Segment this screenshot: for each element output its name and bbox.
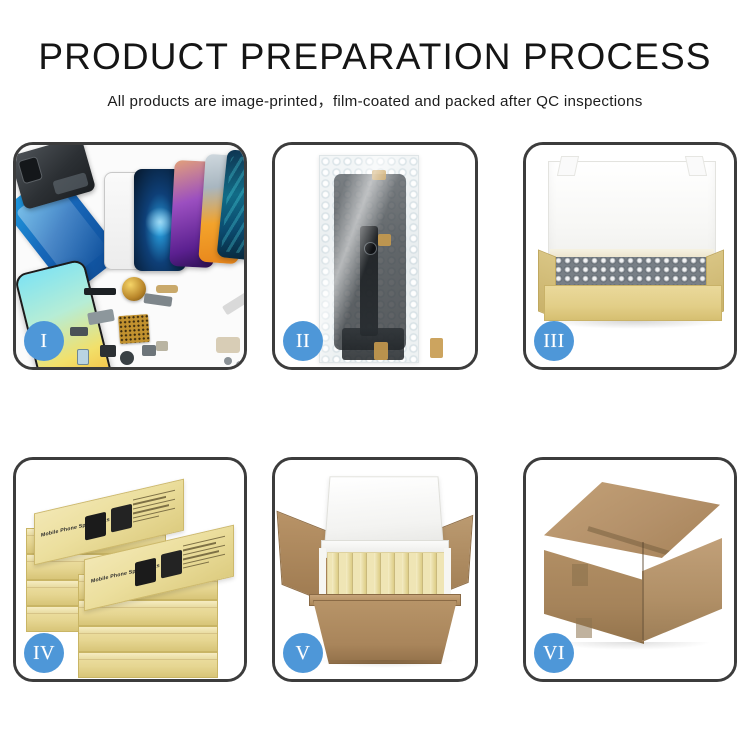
step-badge-1: I	[24, 321, 64, 361]
step-panel-1: I	[13, 142, 247, 370]
step-badge-6: VI	[534, 633, 574, 673]
plastic-gloss-highlight	[320, 156, 418, 362]
part-antenna	[70, 327, 88, 336]
drop-shadow	[546, 321, 722, 329]
box-artwork-screen-a	[85, 512, 106, 541]
box-spec-lines	[133, 490, 175, 530]
carton-front-panel	[313, 600, 457, 664]
bubble-wrap-bag	[319, 155, 419, 363]
carton-mark-a	[572, 564, 588, 586]
box-spec-lines	[183, 536, 225, 576]
box-artwork-screen-b	[161, 550, 182, 579]
drop-shadow	[315, 660, 455, 668]
speaker-module	[122, 277, 146, 301]
foam-lid	[324, 476, 444, 547]
step-badge-2: II	[283, 321, 323, 361]
step-panel-4: Mobile Phone Spare Parts Mobile Phone Sp…	[13, 457, 247, 682]
tape-tab-4	[430, 338, 443, 358]
part-sim-tray	[156, 341, 168, 351]
step-panel-2: II	[272, 142, 478, 370]
box-artwork-screen-a	[135, 558, 156, 587]
box-artwork-screen-b	[111, 504, 132, 533]
step-badge-4: IV	[24, 633, 64, 673]
step-panel-3: III	[523, 142, 737, 370]
carton-corner-seam	[642, 542, 644, 640]
carton-mark-b	[576, 618, 592, 638]
step-badge-3: III	[534, 321, 574, 361]
part-vibrator	[120, 351, 134, 365]
drop-shadow	[552, 642, 712, 650]
part-flex-cable	[156, 285, 178, 293]
stack-box	[78, 652, 218, 678]
box-front-wall	[544, 285, 722, 321]
part-sensor	[77, 349, 89, 365]
product-preparation-infographic: PRODUCT PREPARATION PROCESS All products…	[0, 0, 750, 750]
part-camera-module	[100, 345, 116, 357]
part-shield-plate	[216, 337, 240, 353]
step-panel-5: V	[272, 457, 478, 682]
chip-array	[118, 314, 150, 344]
part-screw-a	[224, 357, 232, 365]
step-badge-5: V	[283, 633, 323, 673]
step-panel-6: VI	[523, 457, 737, 682]
part-connector	[142, 345, 156, 356]
steps-grid: I II	[0, 0, 750, 750]
part-screw-b	[236, 361, 244, 367]
stack-box	[78, 626, 218, 652]
part-earpiece	[84, 288, 116, 295]
